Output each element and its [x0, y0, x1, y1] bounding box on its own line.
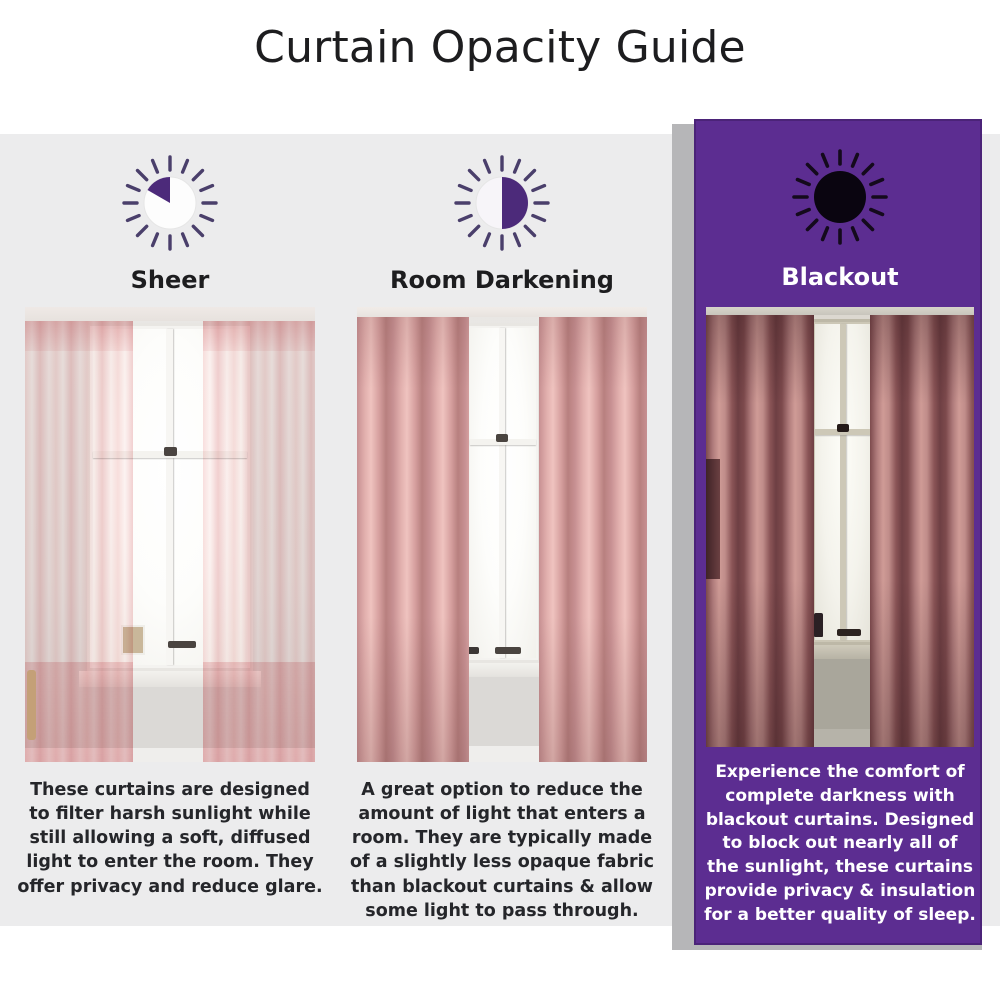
column-body-sheer: These curtains are designed to filter ha…	[17, 778, 323, 899]
sun-full-filled-icon	[792, 149, 888, 245]
sun-quarter-filled-icon	[122, 155, 218, 251]
column-room-darkening[interactable]: Room Darkening A great option to reduce …	[337, 134, 667, 926]
curtain-photo-sheer	[25, 307, 315, 762]
sun-icon-wrap-sheer	[5, 148, 335, 258]
sun-half-filled-icon	[454, 155, 550, 251]
column-body-blackout: Experience the comfort of complete darkn…	[704, 761, 976, 928]
curtain-photo-blackout	[706, 307, 974, 747]
sun-icon-wrap-room-darkening	[337, 148, 667, 258]
column-heading-blackout: Blackout	[696, 263, 984, 291]
column-blackout[interactable]: Blackout Experience the comfort of compl…	[694, 119, 982, 945]
column-sheer[interactable]: Sheer These curtains are designed to fil…	[5, 134, 335, 926]
column-body-room-darkening: A great option to reduce the amount of l…	[349, 778, 655, 923]
column-heading-room-darkening: Room Darkening	[337, 266, 667, 294]
curtain-photo-room-darkening	[357, 307, 647, 762]
sun-icon-wrap-blackout	[696, 143, 984, 251]
page-title: Curtain Opacity Guide	[0, 22, 1000, 73]
column-heading-sheer: Sheer	[5, 266, 335, 294]
